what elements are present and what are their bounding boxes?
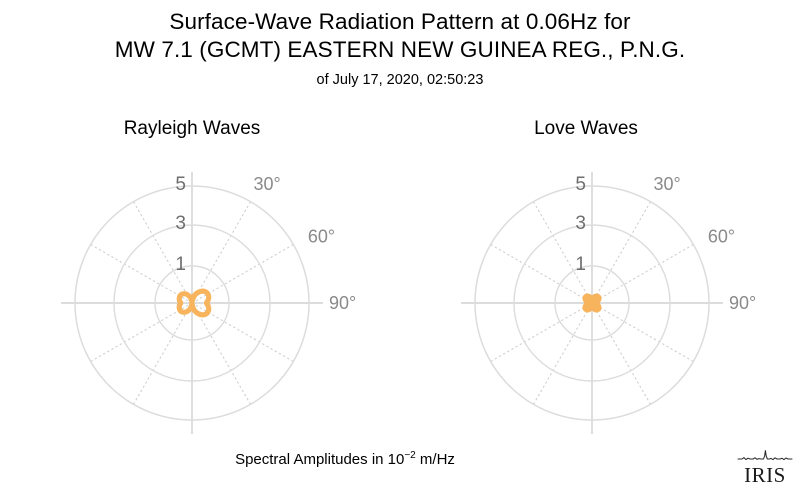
polar-spoke-30 <box>192 202 251 303</box>
radial-tick-label-1: 1 <box>175 254 186 275</box>
angle-tick-label-60deg: 60° <box>308 227 335 247</box>
polar-spoke-240 <box>491 303 592 362</box>
chart-header: Surface-Wave Radiation Pattern at 0.06Hz… <box>0 0 800 90</box>
polar-spoke-210 <box>534 303 593 404</box>
polar-plot-love: 13530°60°90° <box>400 110 800 440</box>
panel-rayleigh-waves: Rayleigh Waves 13530°60°90° <box>0 110 400 440</box>
radial-tick-labels: 135 <box>175 174 186 275</box>
iris-logo: IRIS <box>736 450 794 490</box>
polar-plot-rayleigh-svg: 13530°60°90° <box>0 110 400 440</box>
polar-spoke-30 <box>592 202 651 303</box>
polar-spoke-60 <box>592 245 693 304</box>
polar-spoke-150 <box>192 303 251 404</box>
angle-tick-label-60deg: 60° <box>708 227 735 247</box>
polar-spoke-240 <box>91 303 192 362</box>
panel-love-waves: Love Waves 13530°60°90° <box>400 110 800 440</box>
radial-tick-label-3: 3 <box>175 213 186 234</box>
radiation-pattern-curve-love <box>585 296 599 310</box>
angle-tick-label-90deg: 90° <box>729 293 756 313</box>
radial-tick-label-3: 3 <box>575 213 586 234</box>
caption-suffix: m/Hz <box>416 451 455 468</box>
iris-wordmark: IRIS <box>736 464 794 486</box>
caption-exponent: −2 <box>404 450 415 461</box>
page-title-line-2: MW 7.1 (GCMT) EASTERN NEW GUINEA REG., P… <box>0 36 800 64</box>
polar-spoke-120 <box>592 303 693 362</box>
radial-tick-label-1: 1 <box>575 254 586 275</box>
radial-tick-label-5: 5 <box>575 174 586 195</box>
footer-caption: Spectral Amplitudes in 10−2 m/Hz <box>0 450 690 468</box>
radial-tick-label-5: 5 <box>175 174 186 195</box>
polar-plot-love-svg: 13530°60°90° <box>400 110 800 440</box>
radial-tick-labels: 135 <box>575 174 586 275</box>
page-title-line-1: Surface-Wave Radiation Pattern at 0.06Hz… <box>0 8 800 36</box>
polar-spoke-150 <box>592 303 651 404</box>
caption-prefix: Spectral Amplitudes in 10 <box>235 451 404 468</box>
angle-tick-label-30deg: 30° <box>254 174 281 194</box>
polar-plot-rayleigh: 13530°60°90° <box>0 110 400 440</box>
page-subtitle-event-time: of July 17, 2020, 02:50:23 <box>0 70 800 90</box>
angle-tick-label-30deg: 30° <box>654 174 681 194</box>
polar-spoke-210 <box>134 303 193 404</box>
angle-tick-label-90deg: 90° <box>329 293 356 313</box>
